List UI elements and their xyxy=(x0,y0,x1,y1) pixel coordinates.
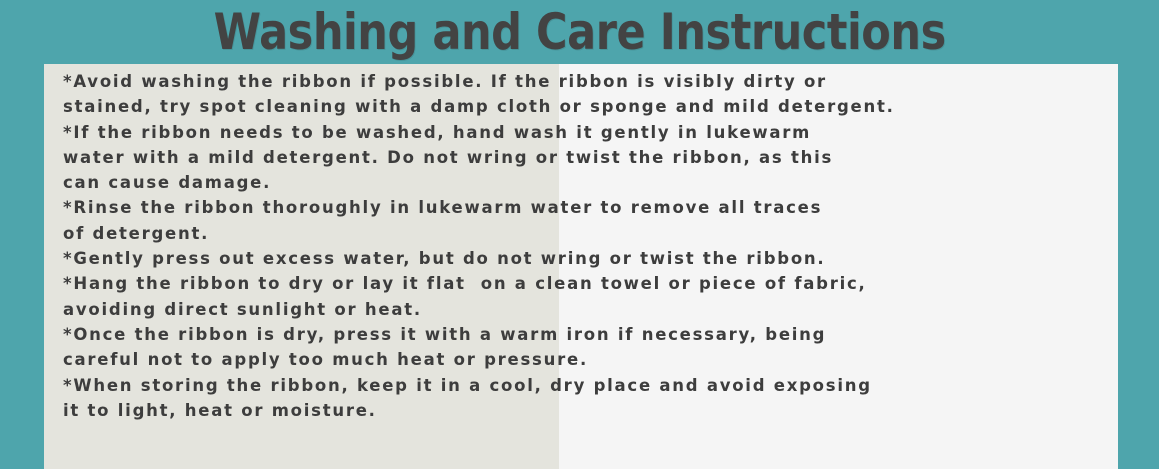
instructions-card: *Avoid washing the ribbon if possible. I… xyxy=(44,64,1118,469)
instruction-line: *Once the ribbon is dry, press it with a… xyxy=(63,322,1108,347)
instruction-line: *Rinse the ribbon thoroughly in lukewarm… xyxy=(63,195,1108,220)
instruction-line: *Gently press out excess water, but do n… xyxy=(63,246,1108,271)
title-bar: Washing and Care Instructions xyxy=(0,0,1159,64)
instruction-line: of detergent. xyxy=(63,221,1108,246)
poster-canvas: Washing and Care Instructions *Avoid was… xyxy=(0,0,1159,469)
instruction-line: it to light, heat or moisture. xyxy=(63,398,1108,423)
instruction-line: water with a mild detergent. Do not wrin… xyxy=(63,145,1108,170)
instruction-line: can cause damage. xyxy=(63,170,1108,195)
instruction-line: avoiding direct sunlight or heat. xyxy=(63,297,1108,322)
instruction-line: stained, try spot cleaning with a damp c… xyxy=(63,94,1108,119)
instruction-line: careful not to apply too much heat or pr… xyxy=(63,347,1108,372)
instruction-line: *Hang the ribbon to dry or lay it flat o… xyxy=(63,271,1108,296)
page-title: Washing and Care Instructions xyxy=(213,7,945,57)
instruction-line: *When storing the ribbon, keep it in a c… xyxy=(63,373,1108,398)
instruction-line: *If the ribbon needs to be washed, hand … xyxy=(63,120,1108,145)
instructions-list: *Avoid washing the ribbon if possible. I… xyxy=(63,69,1108,423)
instruction-line: *Avoid washing the ribbon if possible. I… xyxy=(63,69,1108,94)
